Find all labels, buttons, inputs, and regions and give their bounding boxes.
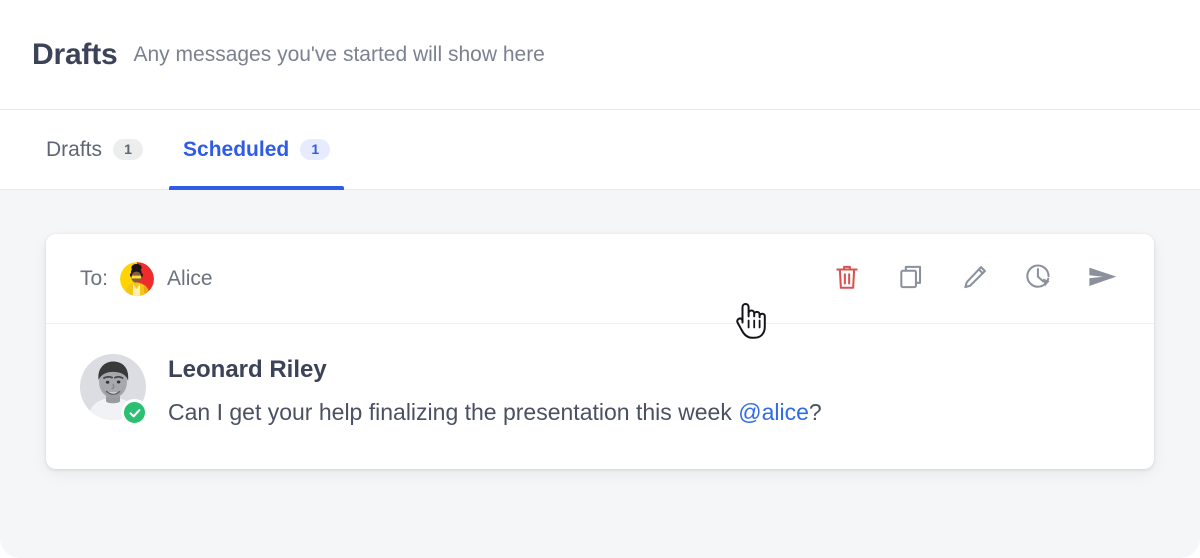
tab-drafts[interactable]: Drafts 1 — [32, 110, 157, 189]
message-text: Can I get your help finalizing the prese… — [168, 398, 822, 427]
tab-drafts-badge: 1 — [113, 139, 143, 160]
send-now-button[interactable] — [1088, 264, 1118, 294]
tab-bar: Drafts 1 Scheduled 1 — [0, 110, 1200, 190]
delete-button[interactable] — [832, 264, 862, 294]
scheduled-message-card: To: — [46, 234, 1154, 469]
duplicate-button[interactable] — [896, 264, 926, 294]
message-text-before: Can I get your help finalizing the prese… — [168, 399, 738, 425]
page-subtitle: Any messages you've started will show he… — [134, 43, 545, 67]
message-text-after: ? — [809, 399, 822, 425]
message-author: Leonard Riley — [168, 356, 822, 384]
clock-arrow-icon — [1024, 262, 1054, 295]
copy-icon — [897, 263, 925, 294]
tab-drafts-label: Drafts — [46, 138, 102, 162]
mention-link[interactable]: @alice — [738, 399, 809, 425]
recipient-name: Alice — [167, 267, 213, 291]
alice-avatar — [120, 262, 154, 296]
page-title: Drafts — [32, 38, 118, 72]
tab-scheduled-label: Scheduled — [183, 138, 289, 162]
trash-icon — [834, 263, 860, 294]
send-icon — [1087, 263, 1119, 294]
leonard-avatar-wrap — [80, 354, 146, 425]
tab-scheduled[interactable]: Scheduled 1 — [169, 110, 344, 189]
tab-scheduled-badge: 1 — [300, 139, 330, 160]
card-message-body: Leonard Riley Can I get your help finali… — [46, 324, 1154, 469]
reschedule-button[interactable] — [1024, 264, 1054, 294]
drafts-window: Drafts Any messages you've started will … — [0, 0, 1200, 558]
to-label: To: — [80, 267, 108, 291]
card-header-row: To: — [46, 234, 1154, 324]
online-check-badge — [121, 399, 148, 426]
content-area: To: — [0, 190, 1200, 558]
message-column: Leonard Riley Can I get your help finali… — [168, 354, 822, 427]
pencil-icon — [961, 263, 989, 294]
card-actions — [832, 264, 1126, 294]
edit-button[interactable] — [960, 264, 990, 294]
page-header: Drafts Any messages you've started will … — [0, 0, 1200, 110]
